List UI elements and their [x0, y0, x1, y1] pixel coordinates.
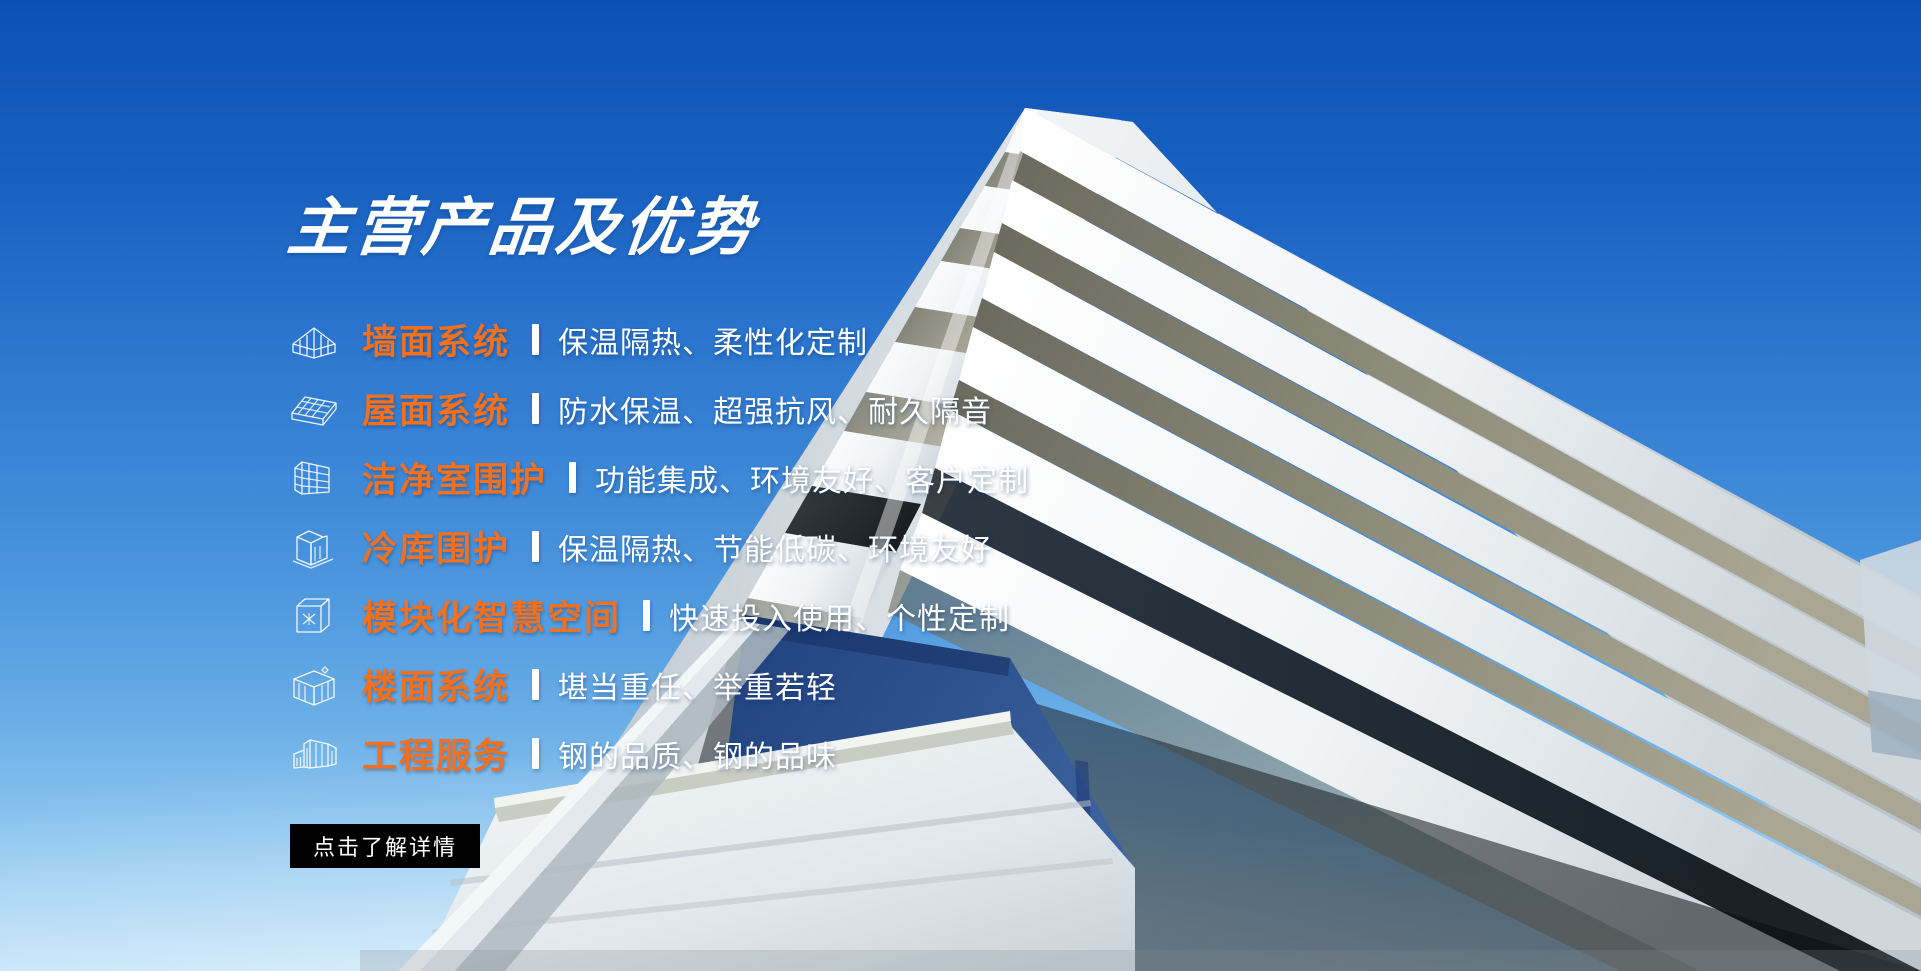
product-name: 模块化智慧空间	[362, 590, 621, 641]
roof-system-icon	[288, 386, 340, 432]
banner-content: 主营产品及优势 墙面系统 保温隔热、柔性化定制	[288, 196, 1338, 868]
product-separator	[532, 531, 539, 562]
product-separator	[532, 738, 539, 769]
product-name: 冷库围护	[362, 521, 510, 572]
product-name: 洁净室围护	[362, 452, 547, 503]
product-name: 工程服务	[362, 728, 510, 779]
product-row[interactable]: 屋面系统 防水保温、超强抗风、耐久隔音	[288, 374, 1338, 443]
product-desc: 保温隔热、节能低碳、环境友好	[558, 525, 992, 569]
product-desc: 堪当重任、举重若轻	[558, 663, 837, 707]
product-row[interactable]: 模块化智慧空间 快速投入使用、个性定制	[288, 581, 1338, 650]
coldstorage-icon	[288, 524, 340, 570]
product-desc: 防水保温、超强抗风、耐久隔音	[558, 387, 992, 431]
product-desc: 功能集成、环境友好、客户定制	[595, 456, 1029, 500]
product-row[interactable]: 工程服务 钢的品质、钢的品味	[288, 719, 1338, 788]
product-desc: 快速投入使用、个性定制	[669, 594, 1010, 638]
product-row[interactable]: 墙面系统 保温隔热、柔性化定制	[288, 305, 1338, 374]
floor-system-icon	[288, 662, 340, 708]
product-name: 屋面系统	[362, 383, 510, 434]
hero-banner: 主营产品及优势 墙面系统 保温隔热、柔性化定制	[0, 0, 1921, 971]
product-row[interactable]: 洁净室围护 功能集成、环境友好、客户定制	[288, 443, 1338, 512]
product-name: 墙面系统	[362, 314, 510, 365]
cleanroom-icon	[288, 455, 340, 501]
modular-space-icon	[288, 593, 340, 639]
product-separator	[532, 324, 539, 355]
product-separator	[643, 600, 650, 631]
product-list: 墙面系统 保温隔热、柔性化定制	[288, 305, 1338, 788]
product-separator	[569, 462, 576, 493]
product-separator	[532, 669, 539, 700]
learn-more-button[interactable]: 点击了解详情	[290, 824, 480, 868]
product-name: 楼面系统	[362, 659, 510, 710]
engineering-icon	[288, 731, 340, 777]
product-row[interactable]: 楼面系统 堪当重任、举重若轻	[288, 650, 1338, 719]
product-desc: 钢的品质、钢的品味	[558, 732, 837, 776]
product-desc: 保温隔热、柔性化定制	[558, 318, 868, 362]
page-title: 主营产品及优势	[285, 196, 1342, 259]
product-separator	[532, 393, 539, 424]
wall-system-icon	[288, 317, 340, 363]
product-row[interactable]: 冷库围护 保温隔热、节能低碳、环境友好	[288, 512, 1338, 581]
